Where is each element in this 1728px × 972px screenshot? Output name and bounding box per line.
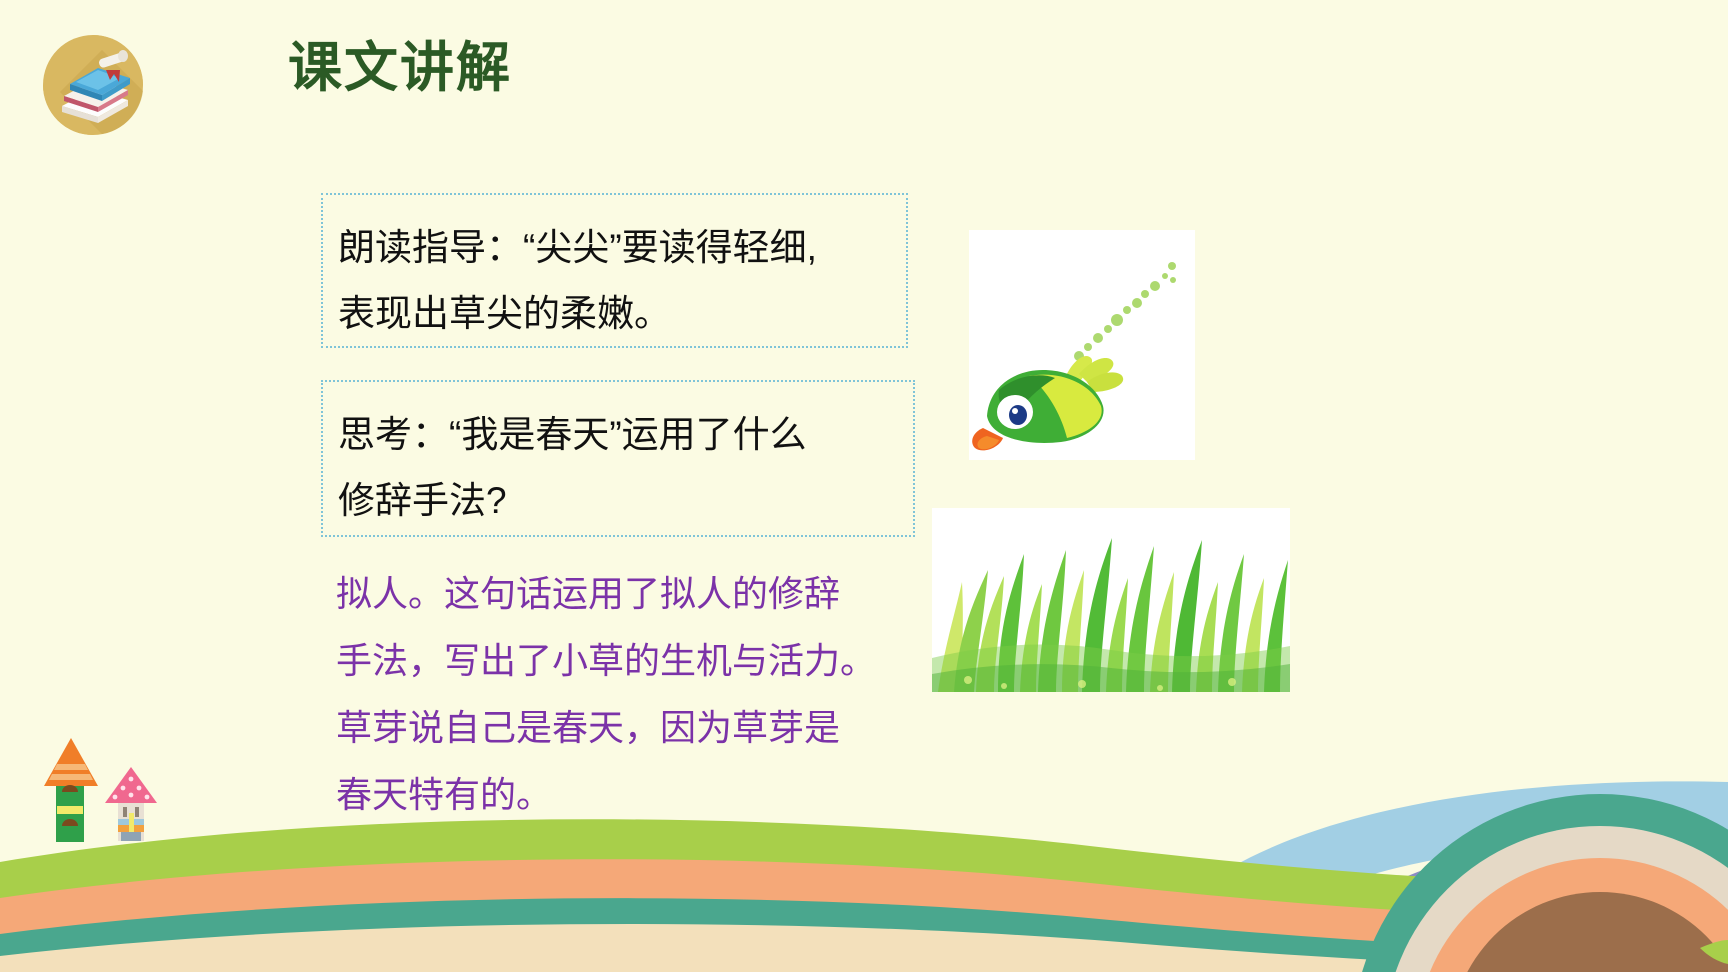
books-stack-icon <box>40 32 146 138</box>
answer-line-4: 春天特有的。 <box>336 761 936 828</box>
thinking-question-line-2: 修辞手法? <box>338 468 807 534</box>
green-house-orange-roof <box>40 736 102 844</box>
reading-guidance-text: 朗读指导：“尖尖”要读得轻细, 表现出草尖的柔嫩。 <box>338 215 817 347</box>
answer-line-1: 拟人。这句话运用了拟人的修辞 <box>336 560 936 627</box>
slide-canvas: 课文讲解 朗读指导：“尖尖”要读得轻细, 表现出草尖的柔嫩。 思考：“我是春天”… <box>0 0 1728 972</box>
reading-guidance-line-2: 表现出草尖的柔嫩。 <box>338 281 817 347</box>
pink-roof-house <box>100 765 162 845</box>
answer-text: 拟人。这句话运用了拟人的修辞 手法，写出了小草的生机与活力。 草芽说自己是春天，… <box>336 560 936 828</box>
green-grass-illustration <box>932 508 1290 692</box>
answer-line-2: 手法，写出了小草的生机与活力。 <box>336 627 936 694</box>
green-fish-illustration <box>969 230 1195 460</box>
page-title: 课文讲解 <box>288 36 512 101</box>
thinking-question-text: 思考：“我是春天”运用了什么 修辞手法? <box>338 402 807 534</box>
answer-line-3: 草芽说自己是春天，因为草芽是 <box>336 694 936 761</box>
reading-guidance-line-1: 朗读指导：“尖尖”要读得轻细, <box>338 227 817 268</box>
thinking-question-line-1: 思考：“我是春天”运用了什么 <box>338 414 807 455</box>
